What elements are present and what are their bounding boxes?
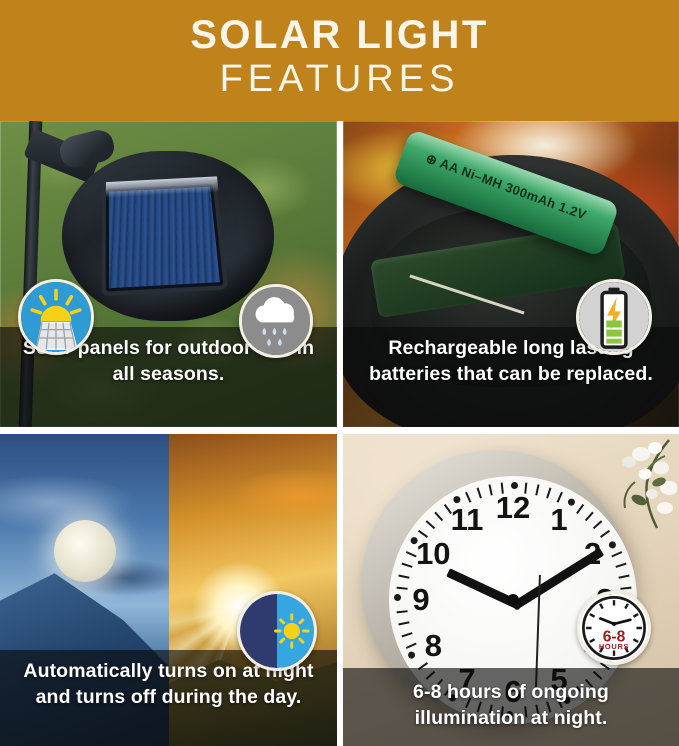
hours-unit: HOURS [599, 642, 629, 651]
clock-major-tick [511, 482, 518, 489]
feature-panel-rechargeable-batteries: ⊕ AA Ni–MH 300mAh 1.2V Rechargeable long… [343, 121, 679, 427]
clock-minor-tick [398, 621, 409, 625]
page-title: SOLAR LIGHT [190, 15, 489, 55]
solar-light-features-infographic: SOLAR LIGHT FEATURES Solar panels for ou… [0, 0, 679, 746]
clock-minor-tick [535, 484, 539, 495]
battery-charging-icon [576, 279, 652, 355]
feature-panel-auto-dusk-to-dawn: Automatically turns on at night and turn… [0, 434, 337, 746]
flowers-decoration [599, 438, 677, 534]
day-night-icon [237, 591, 317, 671]
clock-numeral: 10 [413, 538, 453, 569]
feature-grid: Solar panels for outdoor use in all seas… [0, 121, 679, 746]
page-subtitle: FEATURES [220, 58, 460, 102]
clock-major-tick [394, 594, 401, 601]
clock-minor-tick [611, 551, 622, 557]
clock-minor-tick [618, 574, 629, 578]
full-moon [54, 520, 116, 582]
feature-panel-runtime-hours: 121234567891011 6 [343, 434, 679, 746]
header-banner: SOLAR LIGHT FEATURES [0, 0, 679, 121]
clock-minor-tick [434, 512, 443, 522]
clock-minor-tick [426, 520, 436, 529]
clock-minor-tick [465, 492, 471, 503]
clock-minor-tick [615, 563, 626, 568]
clock-numeral: 12 [493, 492, 533, 523]
panel-caption: 6-8 hours of ongoing illumination at nig… [343, 668, 679, 746]
clock-minor-tick [546, 487, 551, 498]
clock-numeral: 1 [539, 504, 579, 535]
hours-clock-icon: 6-8 HOURS [577, 591, 651, 665]
clock-minor-tick [401, 563, 412, 568]
clock-minor-tick [557, 492, 563, 503]
clock-numeral: 11 [447, 504, 487, 535]
feature-panel-solar-panels: Solar panels for outdoor use in all seas… [0, 121, 337, 427]
clock-numeral: 9 [401, 584, 441, 615]
clock-minor-tick [398, 574, 409, 578]
clock-minor-tick [585, 512, 594, 522]
clock-minor-tick [401, 632, 412, 637]
clock-numeral: 8 [413, 630, 453, 661]
rain-cloud-icon [239, 284, 313, 358]
photovoltaic-cell [106, 184, 224, 292]
clock-minor-tick [477, 487, 482, 498]
clock-center-cap [507, 594, 519, 606]
solar-panel-sun-icon [18, 279, 94, 355]
